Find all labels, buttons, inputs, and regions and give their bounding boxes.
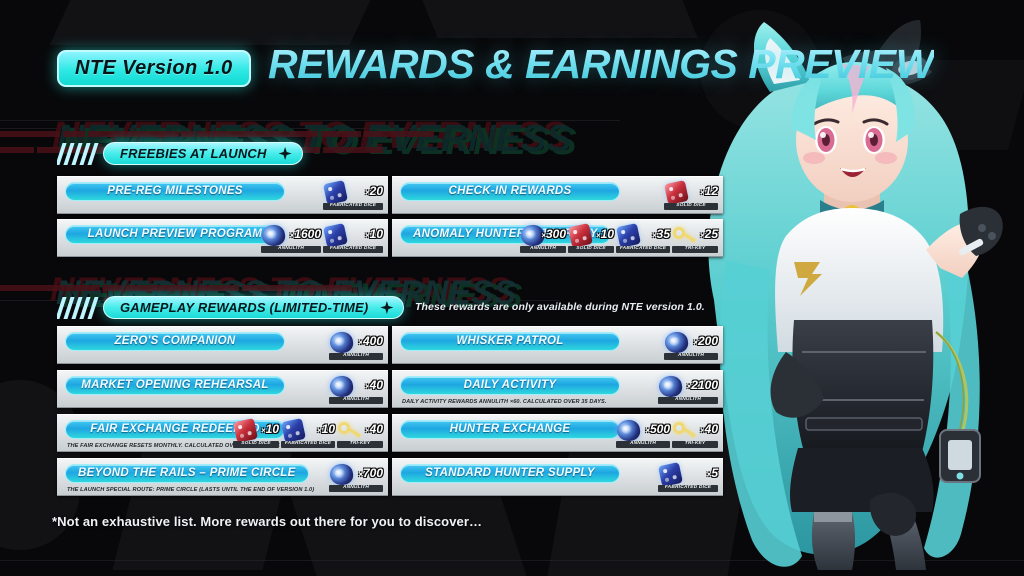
reward-currency-label: ANNULITH [261,246,321,253]
fabricated-dice-icon [281,418,306,443]
reward-amount: ×200 [693,335,718,347]
reward-row[interactable]: ZERO'S COMPANION ×400 ANNULITH [57,326,388,364]
page-title: REWARDS & EARNINGS PREVIEW [268,44,934,85]
reward-label-pill: CHECK-IN REWARDS [400,182,620,201]
reward-chip: ×700 ANNULITH [329,462,383,492]
reward-chip-list: ×300 ANNULITH ×10 SOLID DICE ×35 FABRICA… [520,223,718,253]
tri-key-icon [337,418,362,443]
reward-currency-label: ANNULITH [520,246,566,253]
reward-chip: ×300 ANNULITH [520,223,566,253]
reward-chip-list: ×1600 ANNULITH ×10 FABRICATED DICE [261,223,383,253]
reward-chip: ×500 ANNULITH [616,418,670,448]
annulith-icon [616,418,641,443]
reward-label: MARKET OPENING REHEARSAL [81,380,268,392]
reward-chip: ×10 FABRICATED DICE [323,223,383,253]
reward-row[interactable]: DAILY ACTIVITY DAILY ACTIVITY REWARDS AN… [392,370,723,408]
reward-amount: ×10 [317,423,335,435]
reward-currency-label: FABRICATED DICE [658,485,718,492]
reward-chip: ×20 FABRICATED DICE [323,180,383,210]
annulith-icon [329,374,354,399]
annulith-icon [658,374,683,399]
reward-amount: ×10 [261,423,279,435]
annulith-icon [261,223,286,248]
diamond-icon [279,147,292,160]
solid-dice-icon [568,223,593,248]
reward-chip: ×12 SOLID DICE [664,180,718,210]
reward-amount: ×5 [707,467,718,479]
reward-label-pill: WHISKER PATROL [400,332,620,351]
section-accent-bars [57,297,99,319]
reward-currency-label: ANNULITH [658,397,718,404]
reward-amount: ×500 [645,423,670,435]
reward-currency-label: SOLID DICE [568,246,614,253]
reward-currency-label: ANNULITH [616,441,670,448]
reward-label-pill: MARKET OPENING REHEARSAL [65,376,285,395]
reward-amount: ×35 [652,228,670,240]
reward-row[interactable]: PRE-REG MILESTONES ×20 FABRICATED DICE [57,176,388,214]
reward-label: PRE-REG MILESTONES [107,186,243,198]
reward-chip: ×10 FABRICATED DICE [281,418,335,448]
reward-label: DAILY ACTIVITY [464,380,557,392]
fabricated-dice-icon [616,223,641,248]
annulith-icon [664,330,689,355]
reward-chip-list: ×500 ANNULITH ×40 TRI-KEY [616,418,718,448]
reward-label-pill: STANDARD HUNTER SUPPLY [400,464,620,483]
reward-row[interactable]: BEYOND THE RAILS – PRIME CIRCLE THE LAUN… [57,458,388,496]
reward-amount: ×10 [365,228,383,240]
reward-chip: ×400 ANNULITH [329,330,383,360]
reward-amount: ×40 [365,379,383,391]
reward-amount: ×700 [358,467,383,479]
reward-chip-list: ×2100 ANNULITH [658,374,718,404]
section-title-pill: FREEBIES AT LAUNCH [103,142,303,165]
reward-note: DAILY ACTIVITY REWARDS ANNULITH ×60. CAL… [402,399,607,405]
reward-currency-label: SOLID DICE [233,441,279,448]
reward-amount: ×40 [365,423,383,435]
section-title-label: FREEBIES AT LAUNCH [120,147,267,160]
reward-chip: ×200 ANNULITH [664,330,718,360]
reward-label-pill: BEYOND THE RAILS – PRIME CIRCLE [65,464,309,483]
reward-chip-list: ×400 ANNULITH [329,330,383,360]
reward-chip: ×1600 ANNULITH [261,223,321,253]
reward-label: HUNTER EXCHANGE [450,424,571,436]
reward-label-pill: ZERO'S COMPANION [65,332,285,351]
reward-currency-label: ANNULITH [329,397,383,404]
reward-chip: ×2100 ANNULITH [658,374,718,404]
footer-disclaimer: *Not an exhaustive list. More rewards ou… [52,514,482,529]
reward-chip-list: ×5 FABRICATED DICE [658,462,718,492]
reward-chip: ×10 SOLID DICE [568,223,614,253]
annulith-icon [329,462,354,487]
reward-amount: ×10 [596,228,614,240]
reward-chip-list: ×40 ANNULITH [329,374,383,404]
fabricated-dice-icon [658,462,683,487]
reward-label: STANDARD HUNTER SUPPLY [425,468,595,480]
reward-currency-label: SOLID DICE [664,203,718,210]
annulith-icon [329,330,354,355]
reward-amount: ×1600 [290,228,321,240]
reward-chip-list: ×10 SOLID DICE ×10 FABRICATED DICE ×40 T… [233,418,383,448]
reward-chip-list: ×200 ANNULITH [664,330,718,360]
reward-row[interactable]: WHISKER PATROL ×200 ANNULITH [392,326,723,364]
reward-label: WHISKER PATROL [456,336,563,348]
reward-row[interactable]: FAIR EXCHANGE REDEEMED THE FAIR EXCHANGE… [57,414,388,452]
reward-chip: ×10 SOLID DICE [233,418,279,448]
reward-label-pill: HUNTER EXCHANGE [400,420,620,439]
reward-currency-label: TRI-KEY [672,441,718,448]
reward-note: THE LAUNCH SPECIAL ROUTE: PRIME CIRCLE (… [67,487,314,493]
reward-chip: ×25 TRI-KEY [672,223,718,253]
reward-amount: ×40 [700,423,718,435]
reward-currency-label: TRI-KEY [337,441,383,448]
fabricated-dice-icon [323,223,348,248]
reward-currency-label: FABRICATED DICE [323,203,383,210]
reward-amount: ×2100 [687,379,718,391]
reward-chip: ×5 FABRICATED DICE [658,462,718,492]
reward-row[interactable]: STANDARD HUNTER SUPPLY ×5 FABRICATED DIC… [392,458,723,496]
reward-label: BEYOND THE RAILS – PRIME CIRCLE [78,468,296,480]
tri-key-icon [672,418,697,443]
reward-row[interactable]: CHECK-IN REWARDS ×12 SOLID DICE [392,176,723,214]
fabricated-dice-icon [323,180,348,205]
reward-label: ZERO'S COMPANION [114,336,235,348]
reward-chip: ×40 TRI-KEY [337,418,383,448]
section-accent-bars [57,143,99,165]
reward-amount: ×20 [365,185,383,197]
reward-currency-label: ANNULITH [329,353,383,360]
reward-row[interactable]: ANOMALY HUNTER'S JOURNEY ×300 ANNULITH ×… [392,219,723,257]
bg-glitch-bars [0,278,520,296]
reward-label: CHECK-IN REWARDS [449,186,572,198]
reward-currency-label: FABRICATED DICE [323,246,383,253]
reward-chip: ×35 FABRICATED DICE [616,223,670,253]
reward-amount: ×400 [358,335,383,347]
reward-amount: ×12 [700,185,718,197]
reward-amount: ×300 [541,228,566,240]
reward-currency-label: TRI-KEY [672,246,718,253]
reward-currency-label: FABRICATED DICE [281,441,335,448]
reward-row[interactable]: HUNTER EXCHANGE ×500 ANNULITH ×40 TRI-KE… [392,414,723,452]
diamond-icon [380,301,393,314]
reward-chip: ×40 TRI-KEY [672,418,718,448]
section-note: These rewards are only available during … [415,301,705,313]
solid-dice-icon [664,180,689,205]
reward-row[interactable]: MARKET OPENING REHEARSAL ×40 ANNULITH [57,370,388,408]
version-badge: NTE Version 1.0 [57,50,251,87]
reward-amount: ×25 [700,228,718,240]
reward-label-pill: DAILY ACTIVITY [400,376,620,395]
reward-label-pill: PRE-REG MILESTONES [65,182,285,201]
reward-row[interactable]: LAUNCH PREVIEW PROGRAM ×1600 ANNULITH ×1… [57,219,388,257]
reward-chip-list: ×700 ANNULITH [329,462,383,492]
reward-label: LAUNCH PREVIEW PROGRAM [88,229,263,241]
tri-key-icon [672,223,697,248]
reward-chip-list: ×20 FABRICATED DICE [323,180,383,210]
reward-currency-label: ANNULITH [329,485,383,492]
page-header: NTE Version 1.0 REWARDS & EARNINGS PREVI… [0,0,1024,110]
section-title-label: GAMEPLAY REWARDS (LIMITED-TIME) [120,301,368,314]
reward-label-pill: LAUNCH PREVIEW PROGRAM [65,225,285,244]
reward-chip: ×40 ANNULITH [329,374,383,404]
reward-currency-label: ANNULITH [664,353,718,360]
reward-currency-label: FABRICATED DICE [616,246,670,253]
reward-chip-list: ×12 SOLID DICE [664,180,718,210]
solid-dice-icon [233,418,258,443]
section-title-pill: GAMEPLAY REWARDS (LIMITED-TIME) [103,296,404,319]
